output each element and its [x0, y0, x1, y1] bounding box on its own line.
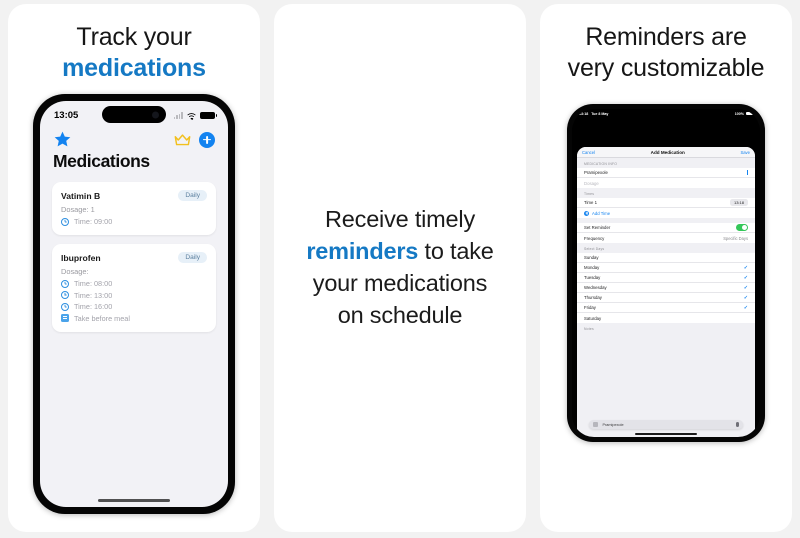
panel-center-copy: Receive timely reminders to take your me…	[292, 204, 507, 332]
copy-line-2: reminders to take	[306, 236, 493, 268]
section-label-select-days: Select Days	[577, 243, 755, 253]
star-icon[interactable]	[53, 130, 72, 149]
add-time-label: Add Time	[592, 211, 610, 216]
day-row-wednesday[interactable]: Wednesday ✓	[577, 283, 755, 293]
autocomplete-pill[interactable]: Pramipexole	[589, 420, 742, 429]
day-row-thursday[interactable]: Thursday ✓	[577, 293, 755, 303]
status-bar-time: 13:18	[579, 112, 588, 116]
copy-highlight: reminders	[306, 238, 418, 264]
note-icon	[61, 314, 69, 322]
dosage-field[interactable]: Dosage	[577, 178, 755, 188]
front-camera-icon	[152, 111, 159, 118]
home-indicator	[635, 433, 697, 435]
top-bar-actions	[174, 132, 215, 148]
time-row: Time: 16:00	[61, 302, 207, 311]
note-row: Take before meal	[61, 314, 207, 323]
time-row: Time: 13:00	[61, 291, 207, 300]
card-header: Vatimin B Daily	[61, 190, 207, 201]
medication-card[interactable]: Vatimin B Daily Dosage: 1 Time: 09:00	[52, 182, 216, 235]
battery-icon	[746, 112, 753, 115]
add-time-row[interactable]: Add Time	[577, 208, 755, 218]
headline-highlight: medications	[62, 53, 206, 84]
set-reminder-toggle[interactable]	[736, 224, 748, 231]
select-days-list: Sunday Monday ✓ Tuesday ✓ Wednesday	[577, 253, 755, 323]
time-text: Time: 08:00	[74, 279, 112, 288]
phone-screen-medications-list: 13:05	[40, 101, 228, 507]
panel-right-headline: Reminders are very customizable	[562, 22, 771, 84]
set-reminder-label: Set Reminder	[584, 225, 610, 230]
plus-circle-icon	[584, 211, 589, 216]
frequency-label: Frequency	[584, 236, 604, 241]
time-text: Time: 13:00	[74, 291, 112, 300]
copy-line-3: your medications	[306, 268, 493, 300]
day-checkmark-icon: ✓	[744, 275, 748, 281]
phone-screen-add-medication: 13:18 Tue 8 May 100% Cancel Add Medicati…	[572, 109, 760, 437]
medication-card-list: Vatimin B Daily Dosage: 1 Time: 09:00 Ib…	[40, 172, 228, 332]
sheet-title: Add Medication	[651, 150, 685, 155]
day-row-sunday[interactable]: Sunday	[577, 253, 755, 263]
cellular-signal-icon	[174, 112, 183, 119]
headline-line-1: Reminders are	[568, 22, 765, 53]
day-checkmark-icon: ✓	[744, 265, 748, 271]
day-row-tuesday[interactable]: Tuesday ✓	[577, 273, 755, 283]
day-checkmark-icon: ✓	[744, 305, 748, 311]
time-1-label: Time 1	[584, 200, 597, 205]
day-label: Friday	[584, 305, 596, 310]
crown-icon[interactable]	[174, 133, 191, 147]
status-bar-left: 13:18 Tue 8 May	[579, 112, 608, 116]
add-time-action[interactable]: Add Time	[584, 211, 610, 216]
set-reminder-row[interactable]: Set Reminder	[577, 223, 755, 233]
add-medication-sheet: Cancel Add Medication Save MEDICATION IN…	[577, 147, 755, 437]
medication-name: Vatimin B	[61, 191, 100, 201]
panel-track-medications: Track your medications 13:05	[8, 4, 260, 532]
battery-percent: 100%	[735, 112, 744, 116]
day-label: Thursday	[584, 295, 602, 300]
medication-name: Ibuprofen	[61, 253, 101, 263]
app-top-bar	[40, 126, 228, 149]
clock-icon	[61, 303, 69, 311]
frequency-value: Specific Days	[723, 236, 748, 241]
copy-line-4: on schedule	[306, 300, 493, 332]
status-bar: 13:18 Tue 8 May 100%	[572, 109, 760, 118]
time-1-row[interactable]: Time 1 13:18	[577, 198, 755, 208]
dynamic-island	[102, 106, 166, 123]
day-checkmark-icon: ✓	[744, 295, 748, 301]
wifi-icon	[186, 112, 197, 120]
day-label: Sunday	[584, 255, 599, 260]
note-text: Take before meal	[74, 314, 130, 323]
add-medication-button[interactable]	[199, 132, 215, 148]
medication-info-list: Pramipexole Dosage	[577, 168, 755, 188]
day-checkmark-icon: ✓	[744, 285, 748, 291]
phone-mockup-left: 13:05	[33, 94, 235, 514]
time-text: Time: 16:00	[74, 302, 112, 311]
frequency-badge: Daily	[178, 190, 207, 201]
headline-line-2: very customizable	[568, 53, 765, 84]
save-button[interactable]: Save	[740, 150, 750, 155]
day-row-saturday[interactable]: Saturday	[577, 313, 755, 323]
battery-icon	[200, 112, 215, 120]
section-label-medication-info: MEDICATION INFO	[577, 158, 755, 168]
times-list: Time 1 13:18 Add Time	[577, 198, 755, 218]
day-label: Wednesday	[584, 285, 607, 290]
time-row: Time: 08:00	[61, 279, 207, 288]
suggestion-text[interactable]: Pramipexole	[602, 423, 623, 427]
time-1-value[interactable]: 13:18	[730, 199, 748, 206]
dosage-placeholder: Dosage	[584, 181, 599, 186]
medication-name-field[interactable]: Pramipexole	[577, 168, 755, 178]
phone-mockup-right: 13:18 Tue 8 May 100% Cancel Add Medicati…	[567, 104, 765, 442]
medication-name-value: Pramipexole	[584, 170, 608, 175]
clock-icon	[61, 280, 69, 288]
screenshot-stage: Track your medications 13:05	[0, 0, 800, 538]
card-header: Ibuprofen Daily	[61, 252, 207, 263]
frequency-row[interactable]: Frequency Specific Days	[577, 233, 755, 243]
frequency-badge: Daily	[178, 252, 207, 263]
keyboard-suggestion-bar: Pramipexole	[577, 420, 755, 429]
keyboard-switch-icon[interactable]	[593, 422, 598, 427]
copy-line-2-rest: to take	[425, 238, 494, 264]
day-label: Tuesday	[584, 275, 600, 280]
status-bar-date: Tue 8 May	[591, 112, 608, 116]
clock-icon	[61, 291, 69, 299]
microphone-icon[interactable]	[736, 422, 739, 427]
sheet-navigation-bar: Cancel Add Medication Save	[577, 147, 755, 158]
headline-line-1: Track your	[62, 22, 206, 53]
day-row-friday[interactable]: Friday ✓	[577, 303, 755, 313]
day-label: Monday	[584, 265, 599, 270]
day-row-monday[interactable]: Monday ✓	[577, 263, 755, 273]
copy-line-1: Receive timely	[306, 204, 493, 236]
section-label-notes: Notes	[577, 323, 755, 333]
reminder-settings-list: Set Reminder Frequency Specific Days	[577, 223, 755, 243]
time-text: Time: 09:00	[74, 217, 112, 226]
page-title: Medications	[40, 149, 228, 172]
status-bar-right: 100%	[735, 112, 753, 116]
time-row: Time: 09:00	[61, 217, 207, 226]
day-label: Saturday	[584, 316, 601, 321]
clock-icon	[61, 218, 69, 226]
dosage-text: Dosage:	[61, 267, 207, 276]
section-label-times: Times	[577, 188, 755, 198]
text-caret	[747, 170, 748, 175]
dosage-text: Dosage: 1	[61, 205, 207, 214]
panel-reminders-copy: Receive timely reminders to take your me…	[274, 4, 526, 532]
status-bar-indicators	[174, 112, 215, 120]
status-bar-time: 13:05	[54, 110, 78, 121]
cancel-button[interactable]: Cancel	[582, 150, 595, 155]
medication-card[interactable]: Ibuprofen Daily Dosage: Time: 08:00 Time…	[52, 244, 216, 332]
home-indicator	[98, 499, 170, 502]
panel-left-headline: Track your medications	[56, 22, 212, 84]
panel-customizable-reminders: Reminders are very customizable 13:18 Tu…	[540, 4, 792, 532]
